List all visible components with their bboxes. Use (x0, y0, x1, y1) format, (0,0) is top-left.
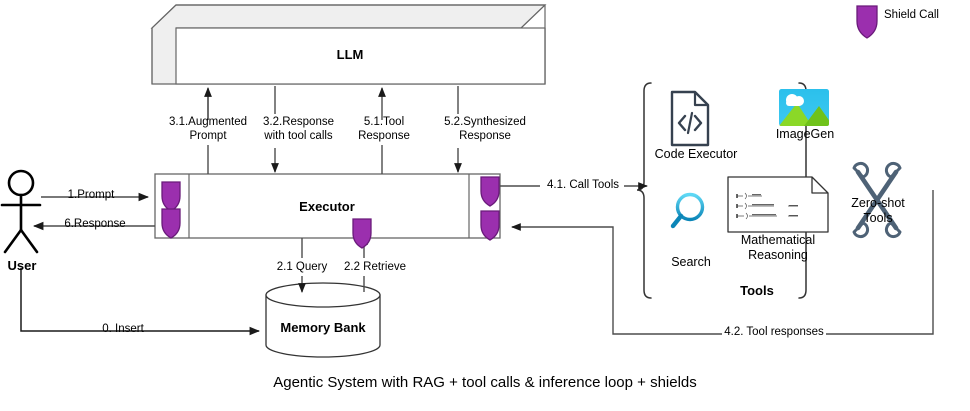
llm-node[interactable] (152, 5, 545, 84)
math-document-icon (728, 177, 828, 232)
crossed-wrenches-icon (854, 163, 900, 236)
flow-0-insert (21, 268, 259, 331)
diagram-canvas: LLM Executor Memory Bank User 1.Prompt 6… (0, 0, 970, 411)
memory-bank-node[interactable] (266, 283, 380, 357)
image-picture-icon (779, 89, 833, 126)
diagram-vector-layer (0, 0, 970, 411)
magnifier-icon (673, 195, 703, 227)
user-actor[interactable] (2, 171, 40, 252)
code-document-icon (672, 92, 708, 145)
shield-executor-center-bottom (353, 219, 371, 248)
legend-shield-icon (857, 6, 877, 38)
executor-node[interactable] (155, 174, 500, 238)
